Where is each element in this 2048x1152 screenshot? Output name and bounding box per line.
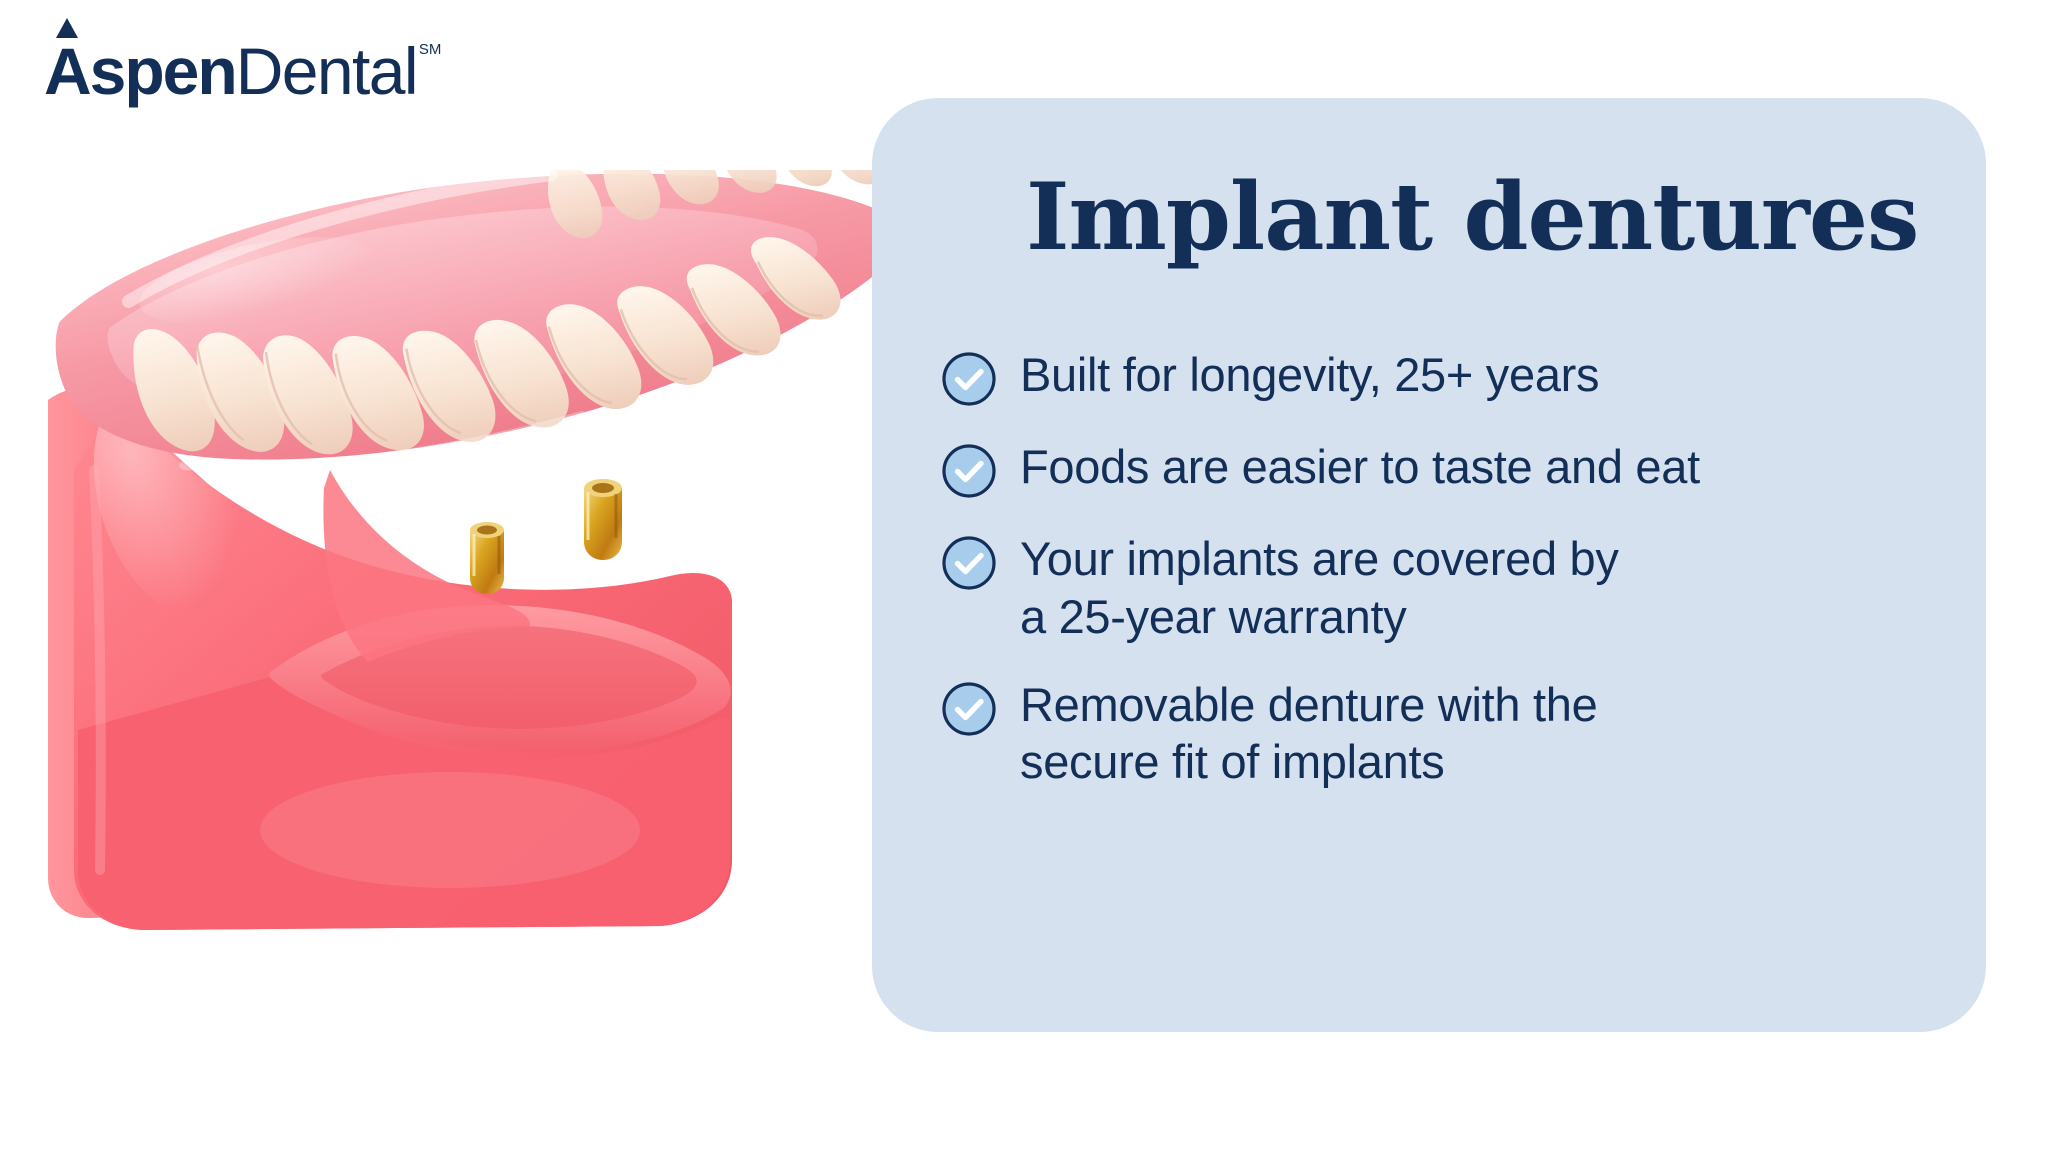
check-circle-icon (940, 350, 998, 408)
page-title: Implant dentures (1026, 170, 1918, 263)
list-item: Built for longevity, 25+ years (940, 346, 1960, 408)
list-item-label: Built for longevity, 25+ years (1020, 346, 1599, 404)
list-item: Foods are easier to taste and eat (940, 438, 1960, 500)
check-circle-icon (940, 534, 998, 592)
implant-denture-model-photo (30, 170, 970, 1030)
list-item-label: Your implants are covered by a 25-year w… (1020, 530, 1619, 646)
check-circle-icon (940, 442, 998, 500)
info-panel: Implant dentures Built for longevity, 25… (872, 98, 1986, 1032)
logo-wordmark-bold: Aspen (44, 34, 236, 108)
check-circle-icon (940, 680, 998, 738)
aspen-dental-logo[interactable]: Aspen Dental SM (44, 38, 441, 104)
logo-wordmark-light: Dental (236, 38, 417, 104)
list-item-label: Removable denture with the secure fit of… (1020, 676, 1597, 792)
implant-abutment-gold (470, 479, 622, 594)
promo-banner: Aspen Dental SM (0, 0, 2048, 1152)
benefits-list: Built for longevity, 25+ years Foods are… (940, 346, 1960, 791)
aspen-leaf-circumflex-icon: Aspen (44, 38, 236, 104)
list-item: Your implants are covered by a 25-year w… (940, 530, 1960, 646)
list-item-label: Foods are easier to taste and eat (1020, 438, 1700, 496)
logo-trademark: SM (419, 42, 442, 57)
list-item: Removable denture with the secure fit of… (940, 676, 1960, 792)
